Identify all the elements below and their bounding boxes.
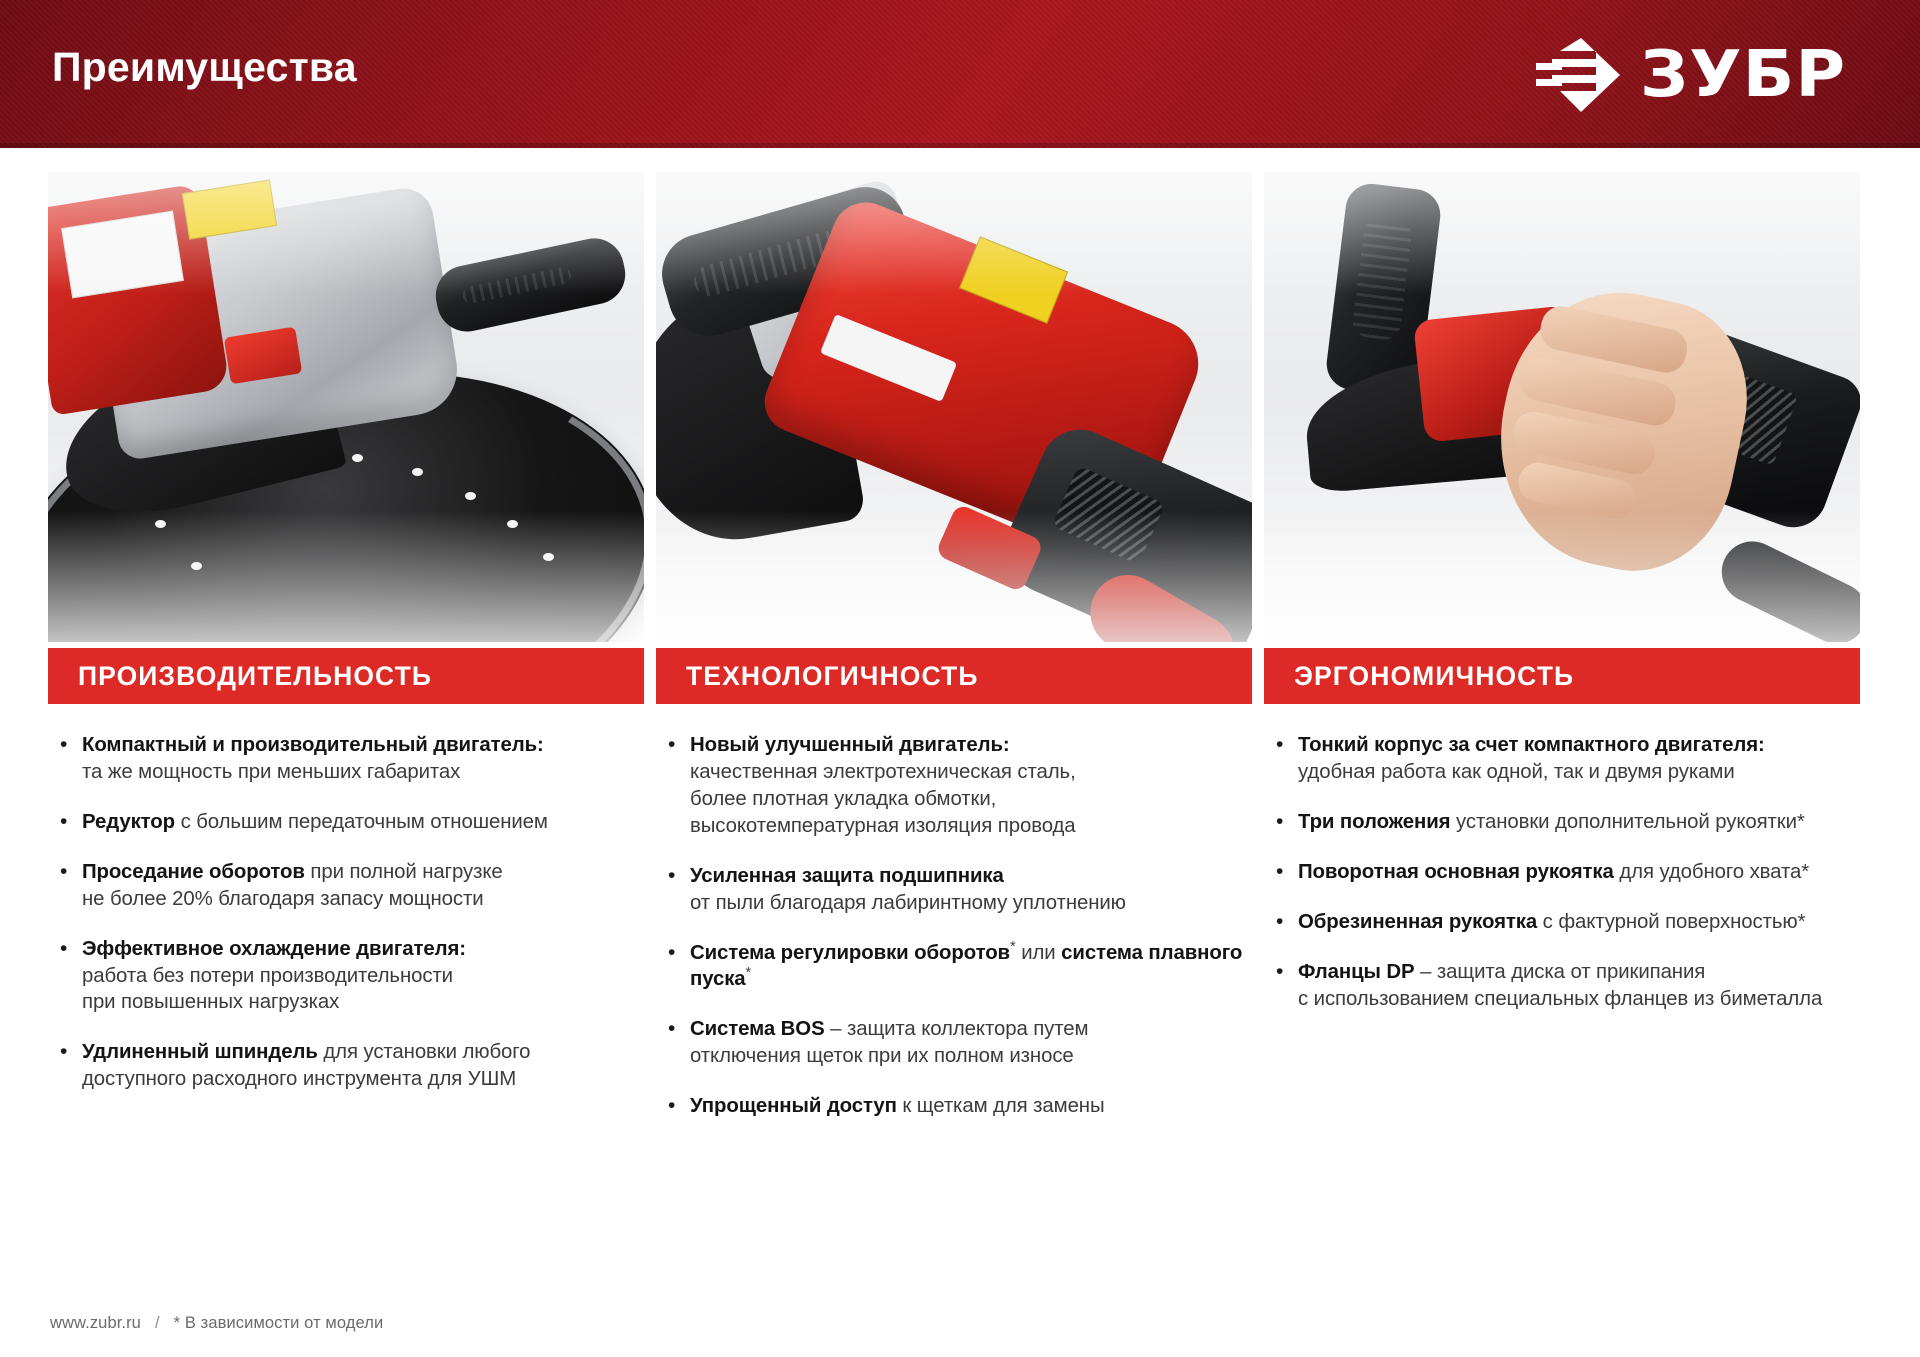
power-cord-shape [1711,531,1860,642]
product-photo-1 [48,172,644,642]
item-lead: Упрощенный доступ [690,1095,897,1117]
item-lead: Проседание оборотов [82,861,305,883]
item-rest: при полной нагрузке [305,861,503,883]
item-lead: Фланцы DP [1298,961,1415,983]
item-lead: Система регулировки оборотов [690,942,1010,964]
list-item: Система регулировки оборотов* или систем… [664,940,1244,994]
page-header: Преимущества ЗУБР [0,0,1920,148]
slide-page: Преимущества ЗУБР [0,0,1920,1357]
item-detail: от пыли благодаря лабиринтному уплотнени… [690,892,1126,914]
column-header-performance: ПРОИЗВОДИТЕЛЬНОСТЬ [48,648,644,704]
item-rest: – защита диска от прикипания [1415,961,1706,983]
item-detail: не более 20% благодаря запасу мощности [82,888,483,910]
page-title: Преимущества [52,44,357,91]
item-lead: Новый улучшенный двигатель: [690,734,1010,756]
list-item: Усиленная защита подшипника от пыли благ… [664,863,1244,917]
benefits-column-technology: ТЕХНОЛОГИЧНОСТЬ Новый улучшенный двигате… [656,648,1252,1143]
item-lead: Удлиненный шпиндель [82,1041,318,1063]
item-lead: Обрезиненная рукоятка [1298,911,1537,933]
item-lead: Компактный и производительный двигатель: [82,734,544,756]
product-photo-strip [48,172,1860,642]
footnote-text: * В зависимости от модели [174,1314,384,1333]
item-detail: отключения щеток при их полном износе [690,1045,1074,1067]
benefits-columns: ПРОИЗВОДИТЕЛЬНОСТЬ Компактный и производ… [48,648,1860,1143]
item-lead: Поворотная основная рукоятка [1298,861,1614,883]
zubr-logo: ЗУБР [1534,36,1835,114]
column-heading-label: ПРОИЗВОДИТЕЛЬНОСТЬ [78,661,432,692]
item-detail: удобная работа как одной, так и двумя ру… [1298,761,1735,783]
item-rest: установки дополнительной рукоятки* [1450,811,1804,833]
list-item: Тонкий корпус за счет компактного двигат… [1272,732,1852,786]
list-item: Система BOS – защита коллектора путем от… [664,1016,1244,1070]
item-lead: Редуктор [82,811,175,833]
benefits-list-performance: Компактный и производительный двигатель:… [48,704,644,1093]
benefits-list-ergonomics: Тонкий корпус за счет компактного двигат… [1264,704,1860,1012]
benefits-list-technology: Новый улучшенный двигатель: качественная… [656,704,1252,1120]
item-rest: для установки любого [318,1041,531,1063]
item-detail: та же мощность при меньших габаритах [82,761,460,783]
footer-separator: / [155,1314,160,1333]
list-item: Фланцы DP – защита диска от прикипания с… [1272,959,1852,1013]
item-rest: – защита коллектора путем [825,1018,1089,1040]
product-photo-3 [1264,172,1860,642]
item-rest: для удобного хвата* [1614,861,1809,883]
list-item: Эффективное охлаждение двигателя: работа… [56,936,636,1017]
list-item: Обрезиненная рукоятка с фактурной поверх… [1272,909,1852,936]
column-header-technology: ТЕХНОЛОГИЧНОСТЬ [656,648,1252,704]
item-rest: к щеткам для замены [897,1095,1105,1117]
column-heading-label: ЭРГОНОМИЧНОСТЬ [1294,661,1574,692]
product-photo-2 [656,172,1252,642]
item-detail: доступного расходного инструмента для УШ… [82,1068,516,1090]
benefits-column-performance: ПРОИЗВОДИТЕЛЬНОСТЬ Компактный и производ… [48,648,644,1143]
item-footnote-marker-2: * [746,966,752,982]
item-detail: работа без потери производительностипри … [82,965,453,1014]
zubr-diamond-logo-icon [1534,36,1622,114]
benefits-column-ergonomics: ЭРГОНОМИЧНОСТЬ Тонкий корпус за счет ком… [1264,648,1860,1143]
brand-wordmark: ЗУБР [1640,43,1846,107]
item-detail: с использованием специальных фланцев из … [1298,988,1822,1010]
list-item: Компактный и производительный двигатель:… [56,732,636,786]
page-footer: www.zubr.ru / * В зависимости от модели [50,1314,383,1333]
item-mid: или [1016,942,1062,964]
list-item: Упрощенный доступ к щеткам для замены [664,1093,1244,1120]
item-lead: Эффективное охлаждение двигателя: [82,938,466,960]
list-item: Поворотная основная рукоятка для удобног… [1272,859,1852,886]
item-rest: с фактурной поверхностью* [1537,911,1805,933]
column-heading-label: ТЕХНОЛОГИЧНОСТЬ [686,661,979,692]
list-item: Удлиненный шпиндель для установки любого… [56,1039,636,1093]
list-item: Редуктор с большим передаточным отношени… [56,809,636,836]
item-lead: Система BOS [690,1018,825,1040]
item-lead: Тонкий корпус за счет компактного двигат… [1298,734,1765,756]
list-item: Новый улучшенный двигатель: качественная… [664,732,1244,840]
item-lead: Усиленная защита подшипника [690,865,1004,887]
list-item: Три положения установки дополнительной р… [1272,809,1852,836]
item-detail: качественная электротехническая сталь,бо… [690,761,1076,837]
column-header-ergonomics: ЭРГОНОМИЧНОСТЬ [1264,648,1860,704]
item-lead: Три положения [1298,811,1450,833]
website-url[interactable]: www.zubr.ru [50,1314,141,1333]
list-item: Проседание оборотов при полной нагрузке … [56,859,636,913]
item-rest: с большим передаточным отношением [175,811,548,833]
